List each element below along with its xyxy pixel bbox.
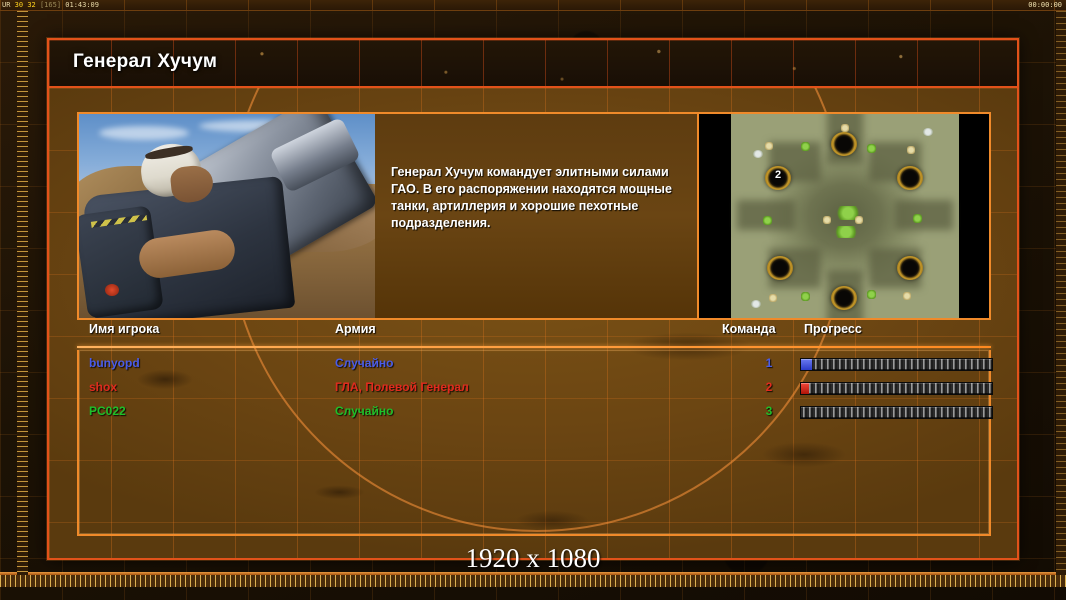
map-lane	[737, 200, 795, 230]
player-progress-fill	[801, 359, 812, 370]
player-progress-bar	[800, 358, 993, 371]
map-preview: 2	[697, 114, 989, 318]
map-resource	[903, 292, 911, 300]
dialog-title-bar: Генерал Хучум	[49, 40, 1017, 88]
general-description-panel: Генерал Хучум командует элитными силами …	[375, 114, 697, 318]
ruler-left	[17, 11, 28, 586]
map-foliage	[913, 214, 922, 223]
player-team: 1	[749, 356, 789, 370]
map-terrain-feature	[923, 128, 933, 136]
status-prefix: UR	[2, 1, 10, 9]
general-portrait	[79, 114, 375, 318]
player-army: Случайно	[335, 356, 393, 370]
column-header-team: Команда	[722, 322, 776, 336]
column-header-player-name: Имя игрока	[89, 322, 159, 336]
map-start-position-2: 2	[765, 166, 791, 190]
general-preview-panel: Генерал Хучум командует элитными силами …	[77, 112, 991, 320]
status-bar-left: UR 30 32 [165] 01:43:09	[2, 0, 99, 11]
player-name: bunyopd	[89, 356, 140, 370]
player-team: 2	[749, 380, 789, 394]
player-progress-bar	[800, 406, 993, 419]
portrait-cloud	[99, 126, 189, 140]
map-foliage	[801, 292, 810, 301]
status-bar-ticks	[0, 0, 1066, 10]
screen-root: UR 30 32 [165] 01:43:09 00:00:00 Генерал…	[0, 0, 1066, 600]
map-resource	[769, 294, 777, 302]
player-table-header: Имя игрока Армия Команда Прогресс	[77, 322, 991, 346]
map-foliage	[763, 216, 772, 225]
player-name: PC022	[89, 404, 126, 418]
player-army: Случайно	[335, 404, 393, 418]
map-start-position	[767, 256, 793, 280]
map-lane	[895, 200, 953, 230]
general-info-dialog: Генерал Хучум	[47, 38, 1019, 560]
map-foliage	[801, 142, 810, 151]
map-resource	[907, 146, 915, 154]
map-terrain-feature	[751, 300, 761, 308]
player-progress-bar	[800, 382, 993, 395]
page-title: Генерал Хучум	[73, 51, 217, 73]
map-resource	[765, 142, 773, 150]
status-bar: UR 30 32 [165] 01:43:09 00:00:00	[0, 0, 1066, 11]
portrait-indicator-light	[105, 284, 119, 296]
table-header-divider	[77, 346, 991, 348]
player-army: ГЛА, Полевой Генерал	[335, 380, 469, 394]
column-header-progress: Прогресс	[804, 322, 862, 336]
status-bar-clock: 00:00:00	[1028, 0, 1062, 11]
map-resource	[841, 124, 849, 132]
column-header-army: Армия	[335, 322, 376, 336]
player-progress-fill	[801, 383, 809, 394]
map-resource	[855, 216, 863, 224]
general-description-text: Генерал Хучум командует элитными силами …	[391, 164, 691, 232]
map-start-position	[831, 286, 857, 310]
resolution-overlay: 1920 x 1080	[0, 543, 1066, 574]
status-elapsed-time: 01:43:09	[65, 1, 99, 9]
table-row: PC022 Случайно 3	[77, 404, 991, 428]
map-preview-image: 2	[731, 114, 959, 318]
status-value-2: 32	[27, 1, 35, 9]
map-terrain-feature	[753, 150, 763, 158]
map-start-position	[897, 166, 923, 190]
map-resource	[823, 216, 831, 224]
ruler-right	[1056, 11, 1066, 586]
map-foliage	[867, 144, 876, 153]
map-foliage	[867, 290, 876, 299]
map-start-position	[897, 256, 923, 280]
ruler-bottom	[0, 575, 1066, 587]
dialog-body: Генерал Хучум командует элитными силами …	[49, 88, 1017, 558]
status-value-3: [165]	[40, 1, 61, 9]
map-start-position-label: 2	[765, 169, 791, 181]
table-row: shox ГЛА, Полевой Генерал 2	[77, 380, 991, 404]
map-foliage	[835, 226, 857, 238]
player-name: shox	[89, 380, 117, 394]
map-start-position	[831, 132, 857, 156]
status-value-1: 30	[15, 1, 23, 9]
player-team: 3	[749, 404, 789, 418]
table-row: bunyopd Случайно 1	[77, 356, 991, 380]
